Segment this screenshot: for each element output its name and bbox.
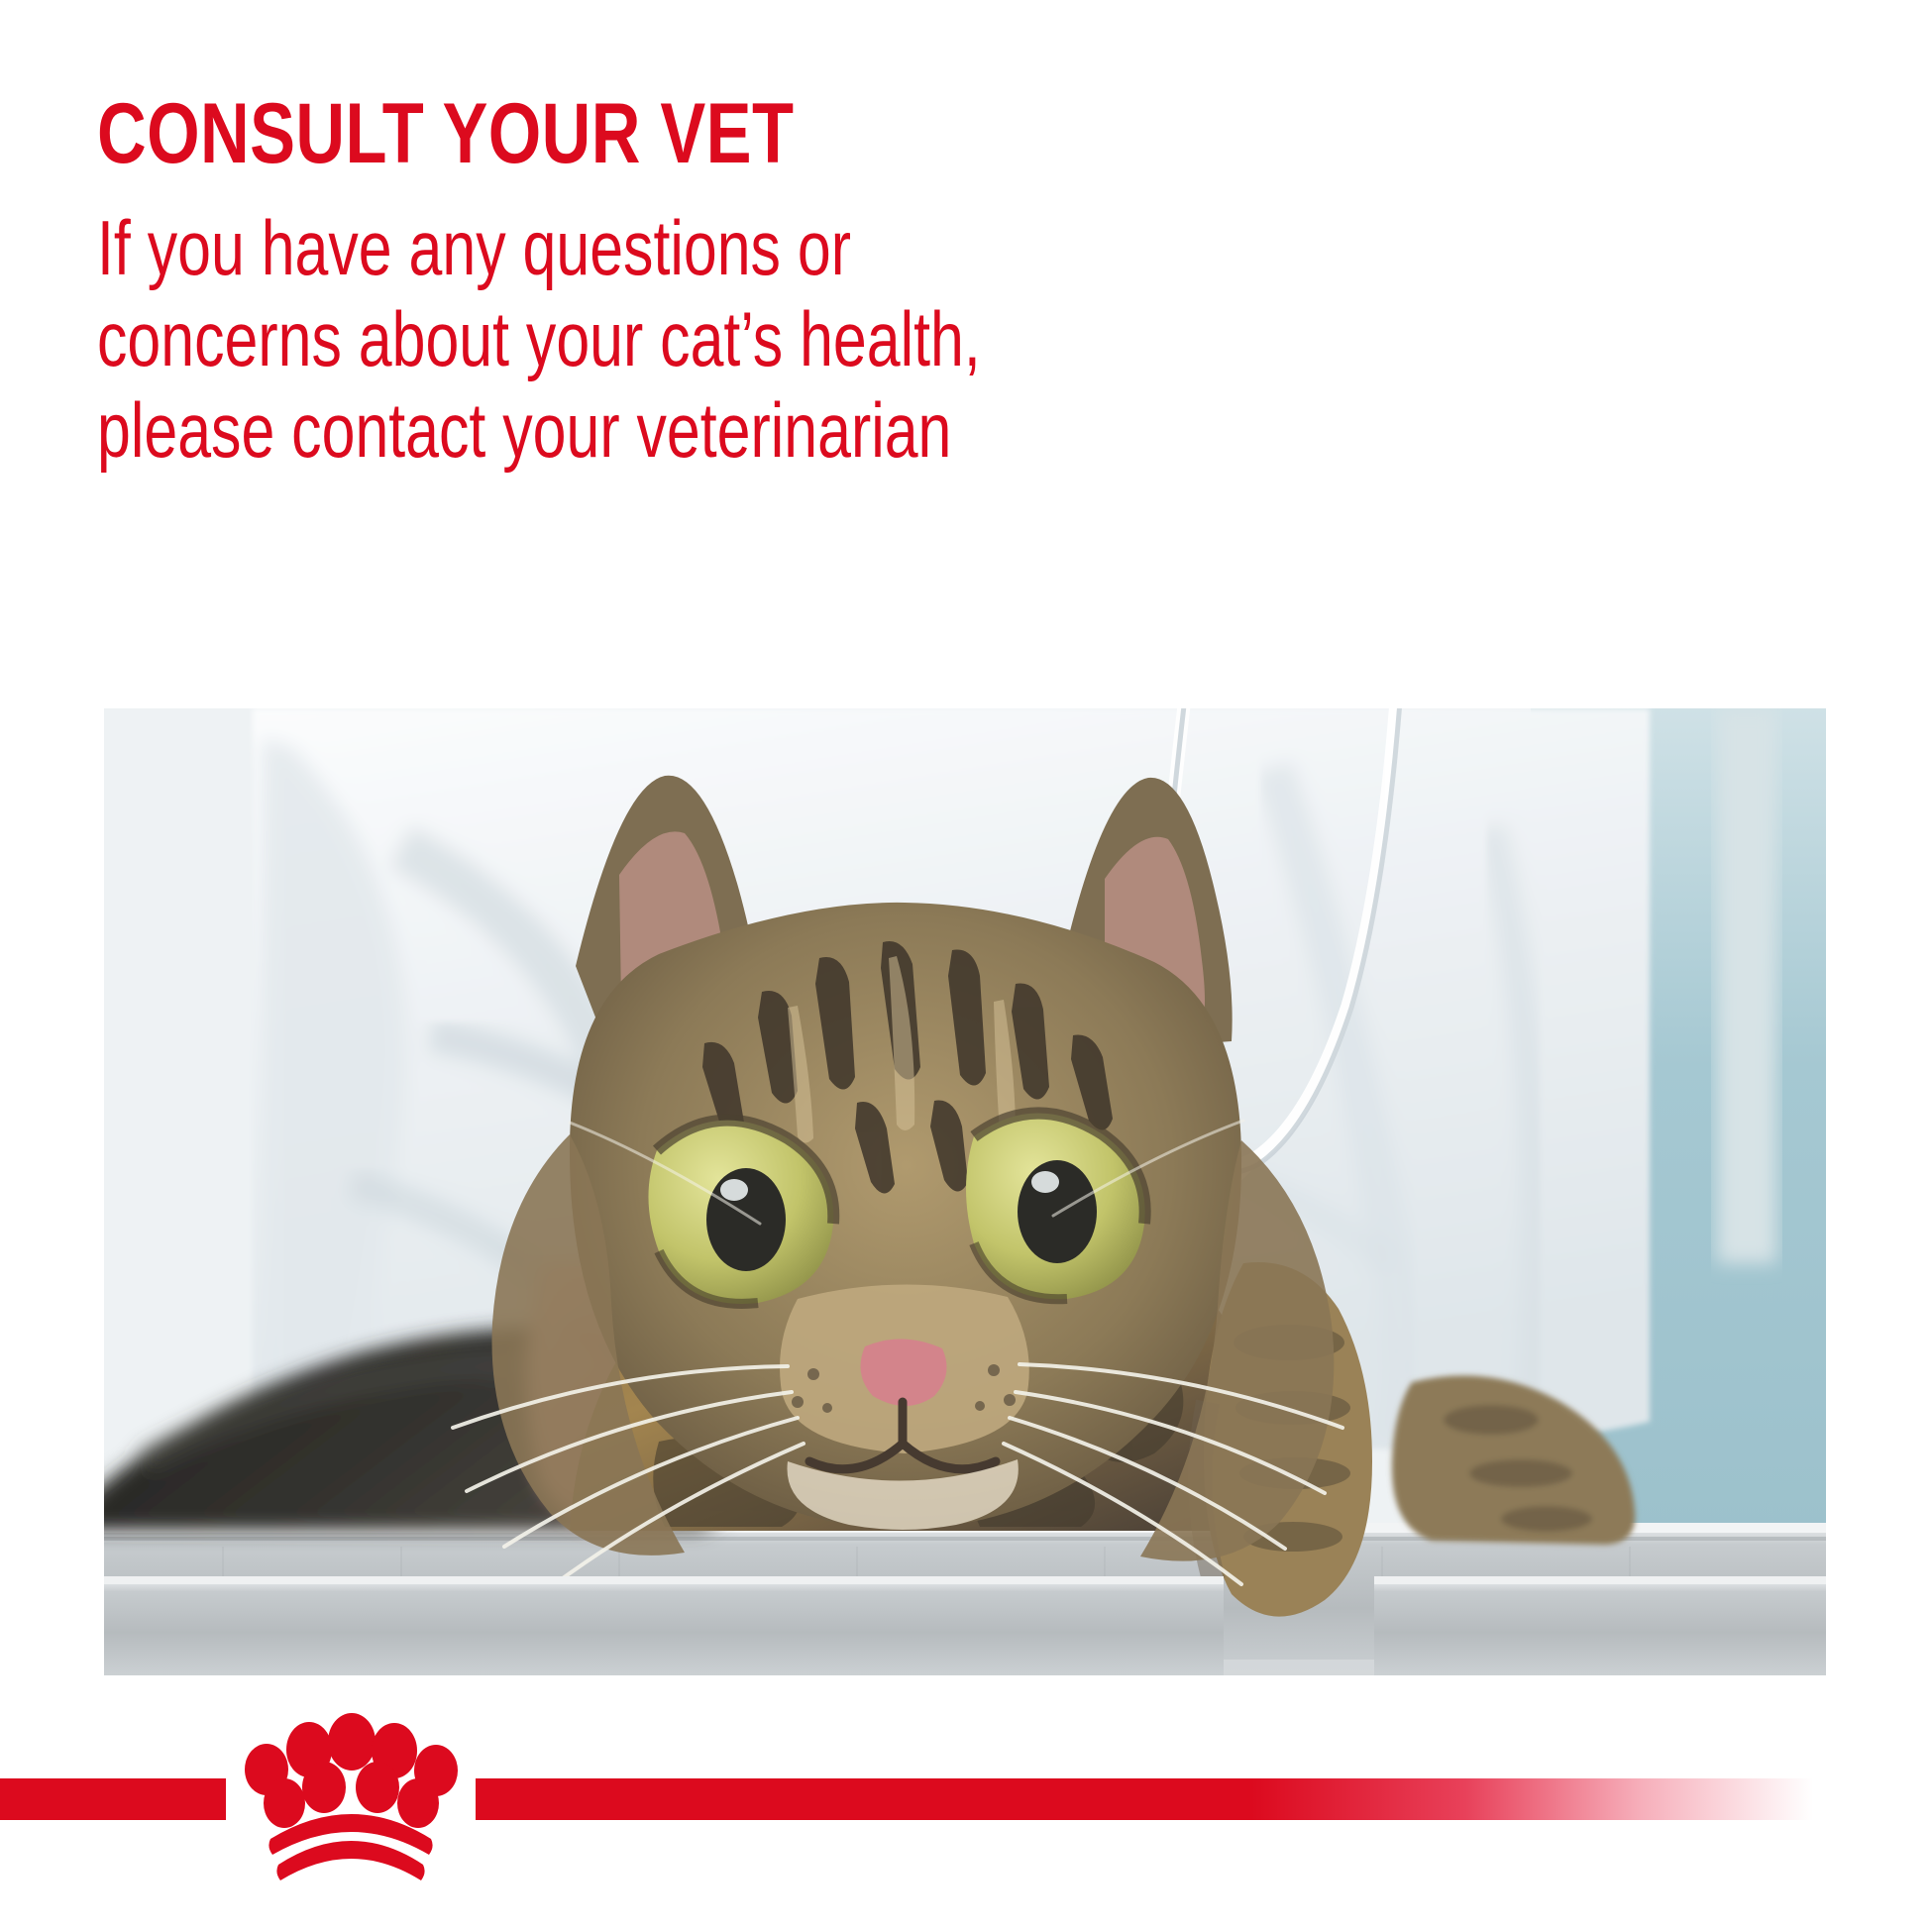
rule-segment-left [0, 1778, 226, 1820]
text-block: CONSULT YOUR VET If you have any questio… [97, 91, 1583, 476]
cat-nose [861, 1339, 947, 1406]
body-line-2: concerns about your cat’s health, [97, 293, 1256, 384]
body-line-1: If you have any questions or [97, 202, 1256, 293]
table-front-edge [104, 1576, 1826, 1675]
footer-rule [0, 1778, 1932, 1820]
cat-eye-right [966, 1113, 1145, 1299]
body-text: If you have any questions or concerns ab… [97, 202, 1583, 476]
page-title: CONSULT YOUR VET [97, 91, 1286, 176]
body-line-3: please contact your veterinarian [97, 384, 1256, 476]
poster-card: CONSULT YOUR VET If you have any questio… [0, 0, 1932, 1932]
crown-icon [241, 1694, 461, 1892]
vet-cat-photo [104, 708, 1826, 1675]
wall-panel [1717, 708, 1776, 1263]
rule-segment-right-gradient [476, 1778, 1813, 1820]
photo-illustration [104, 708, 1826, 1675]
royal-canin-crown-logo [241, 1694, 461, 1892]
